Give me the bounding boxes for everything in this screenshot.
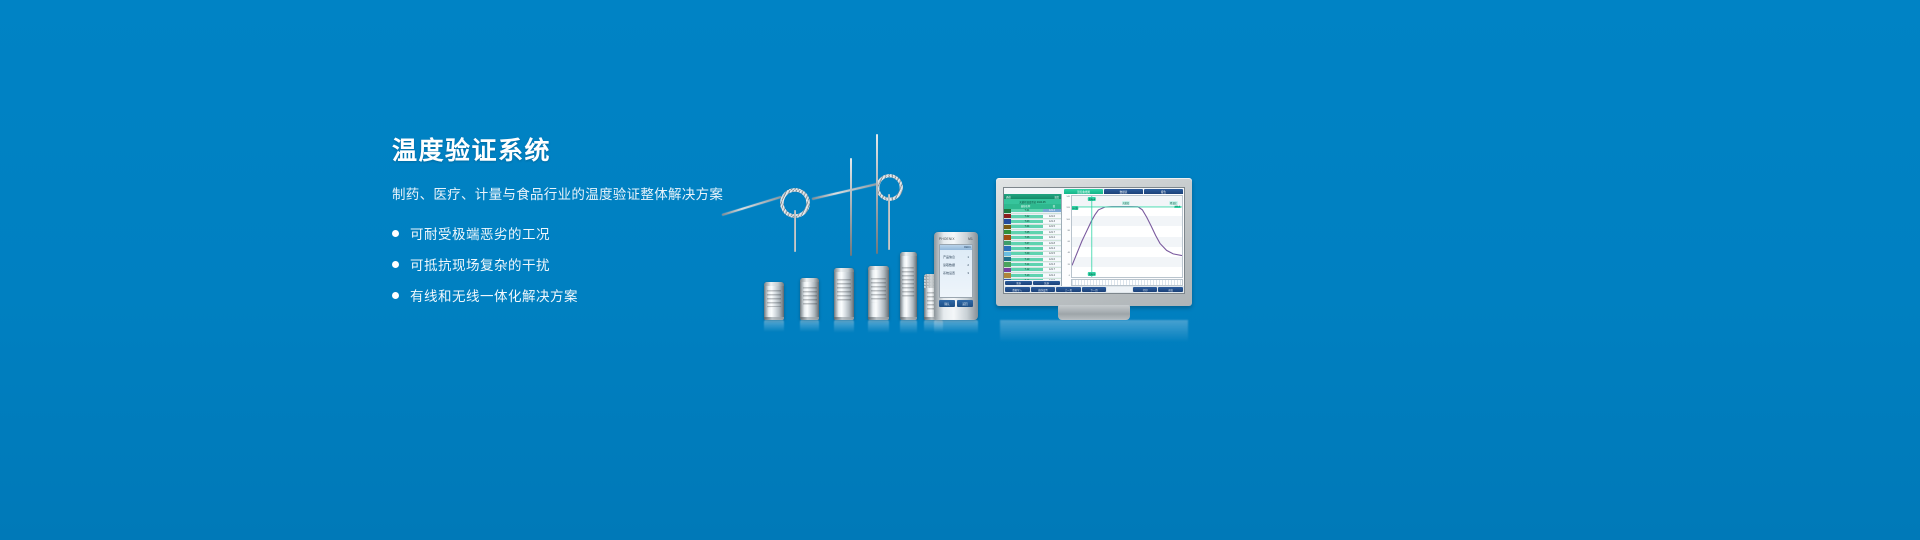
- logger-reflection: [868, 320, 889, 335]
- channel-name: T-07: [1011, 242, 1043, 245]
- toolbar-button[interactable]: 打印: [1133, 287, 1158, 292]
- feature-label: 有线和无线一体化解决方案: [410, 285, 578, 305]
- logger-reflection: [800, 320, 819, 334]
- feature-label: 可抵抗现场复杂的干扰: [410, 254, 550, 274]
- channel-name: T-08: [1011, 247, 1043, 250]
- chart-y-axis: 020406080100120140: [1062, 194, 1071, 278]
- channel-color-swatch: [1004, 262, 1011, 266]
- channel-color-swatch: [1004, 219, 1011, 223]
- reference-left-label: F0 值: [1071, 206, 1078, 210]
- channel-value: 121.4: [1043, 274, 1061, 277]
- y-axis-tick: 100: [1066, 219, 1070, 221]
- channel-value: 121.4: [1043, 247, 1061, 250]
- series-line-T-01: [1072, 207, 1182, 266]
- channel-color-swatch: [1004, 257, 1011, 261]
- channel-list[interactable]: T-01121.4T-02121.6T-03121.3T-04121.5T-05…: [1004, 209, 1061, 281]
- channel-color-swatch: [1004, 241, 1011, 245]
- chart-horizontal-scrollbar[interactable]: [1071, 279, 1183, 286]
- handheld-brand-row: PHOENIX M1: [937, 235, 975, 243]
- software-body: 通道 温度 灭菌柜温度验证 2024-05 曲线名称 值 T-01121.4T-…: [1004, 194, 1184, 286]
- toolbar-button[interactable]: 下一页: [1082, 287, 1107, 292]
- logger-label: [902, 267, 915, 297]
- menu-label: 系统设置: [943, 271, 955, 275]
- wireless-data-logger-5: [900, 252, 917, 320]
- channel-value: 121.5: [1043, 252, 1061, 255]
- y-axis-tick: 120: [1066, 207, 1070, 209]
- channel-value: 121.6: [1043, 258, 1061, 261]
- y-axis-tick: 140: [1066, 196, 1070, 198]
- y-axis-tick: 20: [1068, 264, 1070, 266]
- wireless-data-logger-4: [868, 266, 889, 320]
- y-axis-tick: 0: [1069, 275, 1070, 277]
- y-axis-tick: 40: [1068, 252, 1070, 254]
- channel-color-swatch: [1004, 230, 1011, 234]
- handheld-keypad: 确认 返回: [939, 300, 973, 307]
- channel-value: 121.5: [1043, 225, 1061, 228]
- y-axis-tick: 60: [1068, 241, 1070, 243]
- cooldown-phase-label: 降温段: [1169, 201, 1178, 205]
- feature-label: 可耐受极端恶劣的工况: [410, 223, 550, 243]
- handheld-brand: PHOENIX: [939, 237, 955, 241]
- channel-name: T-04: [1011, 225, 1043, 228]
- sterilization-phase-label: 灭菌段: [1122, 201, 1131, 205]
- probe-wire-right: [812, 182, 881, 200]
- list-item[interactable]: 系统设置 3: [943, 271, 969, 275]
- toolbar-button[interactable]: 数据导入: [1005, 287, 1030, 292]
- channel-color-swatch: [1004, 246, 1011, 250]
- logger-reflection: [834, 320, 854, 335]
- back-button[interactable]: 返回: [957, 300, 973, 307]
- channel-value: 121.3: [1043, 220, 1061, 223]
- logger-reflection: [764, 320, 784, 334]
- channel-value: 121.7: [1043, 231, 1061, 234]
- channel-name: T-01: [1011, 209, 1043, 212]
- channel-color-swatch: [1004, 225, 1011, 229]
- logger-reflection: [900, 320, 917, 336]
- channel-name: T-09: [1011, 252, 1043, 255]
- probe-stem-left: [794, 210, 796, 252]
- probe-needle-long: [876, 134, 878, 254]
- channel-name: T-12: [1011, 268, 1043, 271]
- channel-name: T-05: [1011, 231, 1043, 234]
- list-item[interactable]: 产品信息 1: [943, 255, 969, 259]
- menu-value: 3: [967, 271, 969, 275]
- cursor-bottom-label: 光标 B: [1088, 272, 1096, 276]
- toolbar-spacer: [1107, 287, 1132, 292]
- channel-panel: 通道 温度 灭菌柜温度验证 2024-05 曲线名称 值 T-01121.4T-…: [1004, 194, 1062, 286]
- menu-value: 2: [967, 263, 969, 267]
- temperature-curve-svg: [1072, 196, 1182, 277]
- probe-wire-left: [722, 196, 782, 216]
- y-axis-tick: 80: [1068, 230, 1070, 232]
- monitor-stand: [1058, 305, 1130, 320]
- channel-name: T-03: [1011, 220, 1043, 223]
- handheld-title-hint: MENU: [964, 246, 971, 249]
- channel-value: 121.6: [1043, 215, 1061, 218]
- bullet-dot-icon: [392, 261, 399, 268]
- channel-name: T-11: [1011, 263, 1043, 266]
- logger-label: [802, 287, 816, 306]
- handheld-screen: MENU 产品信息 1 读取数据 2 系统设置 3: [939, 244, 973, 298]
- hero-banner: 温度验证系统 制药、医疗、计量与食品行业的温度验证整体解决方案 可耐受极端恶劣的…: [0, 0, 1920, 540]
- channel-value: 121.2: [1043, 236, 1061, 239]
- monitor-bezel: 温度曲线图 数据表 报告 通道 温度 灭菌柜温度验证 2024-05: [996, 178, 1192, 306]
- reference-right-label: 121.1: [1174, 206, 1181, 208]
- handheld-model: M1: [968, 237, 973, 241]
- invert-selection-button[interactable]: 反选: [1033, 281, 1060, 285]
- channel-color-swatch: [1004, 235, 1011, 239]
- menu-label: 读取数据: [943, 263, 955, 267]
- menu-value: 1: [967, 255, 969, 259]
- bullet-dot-icon: [392, 230, 399, 237]
- monitor-reflection: [1000, 320, 1188, 342]
- bullet-dot-icon: [392, 292, 399, 299]
- logger-label: [871, 278, 887, 302]
- channel-value: 121.4: [1043, 209, 1061, 212]
- logger-label: [767, 290, 782, 307]
- channel-name: T-13: [1011, 274, 1043, 277]
- handheld-menu: 产品信息 1 读取数据 2 系统设置 3: [940, 250, 972, 297]
- channel-color-swatch: [1004, 252, 1011, 256]
- validation-software-monitor: PHOENIX 温度曲线图 数据表 报告 通道 温度: [996, 178, 1192, 320]
- cursor-top-label: 光标 A: [1088, 197, 1096, 201]
- channel-name: T-10: [1011, 258, 1043, 261]
- monitor-screen: 温度曲线图 数据表 报告 通道 温度 灭菌柜温度验证 2024-05: [1003, 187, 1185, 294]
- channel-color-swatch: [1004, 273, 1011, 277]
- software-bottom-toolbar: 数据导入曲线设置上一页下一页打印退出: [1004, 286, 1184, 293]
- probe-needle-short: [850, 158, 852, 256]
- toolbar-button[interactable]: 曲线设置: [1031, 287, 1056, 292]
- channel-name: T-02: [1011, 215, 1043, 218]
- channel-color-swatch: [1004, 209, 1011, 213]
- product-photo: PHOENIX M1 MENU 产品信息 1 读取数据 2: [700, 110, 1240, 320]
- channel-value: 121.8: [1043, 242, 1061, 245]
- logger-label: [837, 279, 852, 302]
- wireless-data-logger-2: [800, 278, 819, 320]
- toolbar-button[interactable]: 退出: [1158, 287, 1183, 292]
- probe-stem-right: [888, 194, 890, 250]
- header-right: 温度: [1054, 195, 1059, 199]
- channel-name: T-06: [1011, 236, 1043, 239]
- chart-plot-area: 光标 A 光标 B F0 值 121.1 灭菌段 降温段: [1071, 195, 1183, 278]
- channel-color-swatch: [1004, 214, 1011, 218]
- temperature-chart: 020406080100120140 光标 A 光标 B F0 值: [1062, 194, 1184, 286]
- wireless-data-logger-3: [834, 268, 854, 320]
- menu-label: 产品信息: [943, 255, 955, 259]
- channel-color-swatch: [1004, 268, 1011, 272]
- list-item[interactable]: 读取数据 2: [943, 263, 969, 267]
- wireless-data-logger-1: [764, 282, 784, 320]
- header-left: 通道: [1006, 195, 1011, 199]
- confirm-button[interactable]: 确认: [939, 300, 955, 307]
- handheld-reader[interactable]: PHOENIX M1 MENU 产品信息 1 读取数据 2: [934, 232, 978, 320]
- channel-value: 121.3: [1043, 263, 1061, 266]
- toolbar-button[interactable]: 上一页: [1056, 287, 1081, 292]
- channel-value: 121.7: [1043, 268, 1061, 271]
- select-all-button[interactable]: 全选: [1005, 281, 1032, 285]
- handheld-reflection: [934, 320, 978, 336]
